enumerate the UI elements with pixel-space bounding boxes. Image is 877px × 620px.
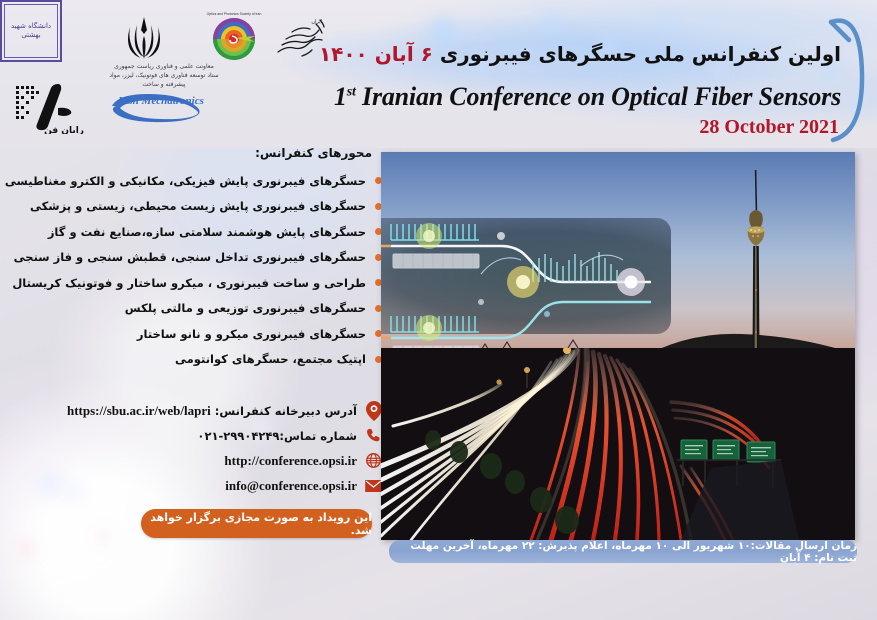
contact-website-value[interactable]: http://conference.opsi.ir [224,453,357,469]
title-fa-date: ۶ آبان ۱۴۰۰ [319,42,433,66]
contact-row-phone: شماره تماس:۲۹۹۰۴۲۴۹-۰۲۱ [7,423,382,448]
topic-item: حسگرهای پایش هوشمند سلامتی سازه،صنایع نف… [2,219,382,245]
svg-text:Kish Mechatronics: Kish Mechatronics [117,95,204,107]
contact-phone-value: ۲۹۹۰۴۲۴۹-۰۲۱ [197,429,279,443]
bottom-sponsor-logos: LABINET Laboratory & Industrial Sales Ne… [0,566,877,620]
topic-label: حسگرهای فیبرنوری پایش زیست محیطی، زیستی … [30,199,366,213]
topic-label: حسگرهای فیبرنوری توزیعی و مالتی پلکس [125,301,366,315]
topic-label: حسگرهای فیبرنوری پایش فیزیکی، مکانیکی و … [5,174,366,188]
topic-label: اپتیک مجتمع، حسگرهای کوانتومی [175,352,366,366]
topic-item: حسگرهای فیبرنوری پایش زیست محیطی، زیستی … [2,194,382,220]
bokeh-dot [18,540,36,558]
topic-item: طراحی و ساخت فیبرنوری ، میکرو ساختار و ف… [2,270,382,296]
envelope-icon [365,476,382,495]
phone-icon [365,426,382,445]
topic-item: حسگرهای فیبرنوری توزیعی و مالتی پلکس [2,296,382,322]
topic-item: اپتیک مجتمع، حسگرهای کوانتومی [2,347,382,373]
contact-row-email: info@conference.opsi.ir [7,473,382,498]
topic-item: حسگرهای فیبرنوری پایش فیزیکی، مکانیکی و … [2,168,382,194]
conference-title-english: 1st Iranian Conference on Optical Fiber … [334,82,841,112]
top-sponsor-logos: دانشگاه شهید بهشتی معاونت علمی و فناوری … [0,0,400,150]
rayan-fan-icon: رایان فن [14,82,86,134]
title-en-ordinal: st [347,84,356,99]
topic-label: طراحی و ساخت فیبرنوری ، میکرو ساختار و ف… [12,276,366,290]
iran-emblem-caption: معاونت علمی و فناوری ریاست جمهوری ستاد ت… [104,62,224,89]
logo-iran-vice-presidency-emblem [118,14,170,64]
topic-label: حسگرهای فیبرنوری میکرو و نانو ساختار [137,327,366,341]
contact-phone-text: شماره تماس:۲۹۹۰۴۲۴۹-۰۲۱ [197,429,357,443]
topics-heading: محورهای کنفرانس: [255,146,372,160]
contact-phone-label: شماره تماس: [279,429,357,443]
contact-address-text: آدرس دبیرخانه کنفرانس: https://sbu.ac.ir… [67,403,357,419]
map-pin-icon [365,401,382,420]
logo-rayan-fan: رایان فن [14,82,86,134]
highway-light-trails [381,348,855,540]
topic-item: حسگرهای فیبرنوری میکرو و نانو ساختار [2,321,382,347]
topics-list: حسگرهای فیبرنوری پایش فیزیکی، مکانیکی و … [2,168,382,372]
contact-block: آدرس دبیرخانه کنفرانس: https://sbu.ac.ir… [7,398,382,498]
iran-emblem-icon [118,14,170,64]
topic-label: حسگرهای پایش هوشمند سلامتی سازه،صنایع نف… [48,225,366,239]
svg-text:رایان فن: رایان فن [44,126,84,134]
title-en-number: 1 [334,82,347,111]
bokeh-dot [96,530,110,544]
kish-mechatronics-icon: Kish Mechatronics [108,88,204,130]
conference-date-english: 28 October 2021 [699,116,839,139]
contact-row-website: http://conference.opsi.ir [7,448,382,473]
hero-image [381,152,855,540]
sbu-logo-text: دانشگاه شهید بهشتی [4,4,58,58]
globe-icon [365,451,382,470]
topic-item: حسگرهای فیبرنوری تداخل سنجی، قطبش سنجی و… [2,245,382,271]
svg-text:Optics and Photonics Society o: Optics and Photonics Society of Iran [207,12,262,16]
title-en-rest: Iranian Conference on Optical Fiber Sens… [362,82,841,111]
conference-title-persian: اولین کنفرانس ملی حسگرهای فیبرنوری ۶ آبا… [319,42,841,66]
contact-row-address: آدرس دبیرخانه کنفرانس: https://sbu.ac.ir… [7,398,382,423]
opsi-rainbow-icon: Optics and Photonics Society of Iran [205,8,263,66]
virtual-event-banner: این رویداد به صورت مجازی برگزار خواهد شد… [141,509,372,538]
topic-label: حسگرهای فیبرنوری تداخل سنجی، قطبش سنجی و… [14,250,366,264]
svg-text:ایران: ایران [311,19,322,25]
logo-optics-photonics-society-iran: Optics and Photonics Society of Iran [205,8,263,66]
deadlines-bar: زمان ارسال مقالات:۱۰ شهریور الی ۱۰ مهرما… [389,540,857,563]
contact-address-label: آدرس دبیرخانه کنفرانس: [215,404,357,418]
logo-shahid-beheshti-university: دانشگاه شهید بهشتی [0,0,62,62]
logo-kish-mechatronics: Kish Mechatronics [108,88,204,130]
conference-poster: دانشگاه شهید بهشتی معاونت علمی و فناوری … [0,0,877,620]
contact-email-value[interactable]: info@conference.opsi.ir [225,478,357,494]
title-fa-main: اولین کنفرانس ملی حسگرهای فیبرنوری [440,42,841,66]
contact-address-value[interactable]: https://sbu.ac.ir/web/lapri [67,403,211,418]
